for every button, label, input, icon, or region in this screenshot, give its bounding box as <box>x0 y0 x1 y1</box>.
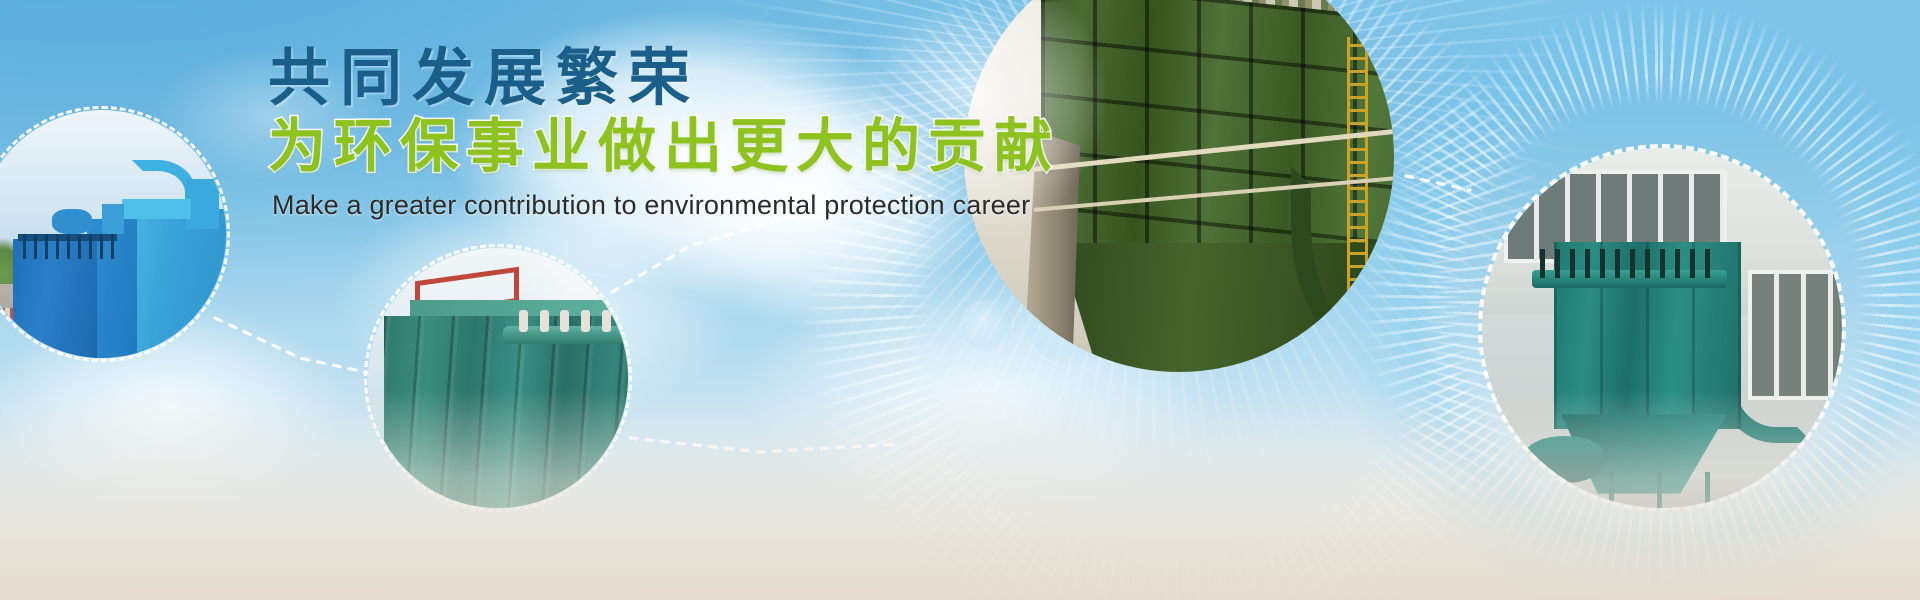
hero-banner: 共同发展繁荣 为环保事业做出更大的贡献 Make a greater contr… <box>0 0 1920 600</box>
banner-copy: 共同发展繁荣 为环保事业做出更大的贡献 Make a greater contr… <box>268 46 1168 221</box>
banner-subheadline-chinese: 为环保事业做出更大的贡献 <box>268 116 1168 177</box>
photo-blue-dust-collector <box>0 110 226 358</box>
banner-subheadline-english: Make a greater contribution to environme… <box>272 190 1168 221</box>
ground-haze <box>0 390 1920 600</box>
banner-headline-chinese: 共同发展繁荣 <box>268 46 1168 110</box>
